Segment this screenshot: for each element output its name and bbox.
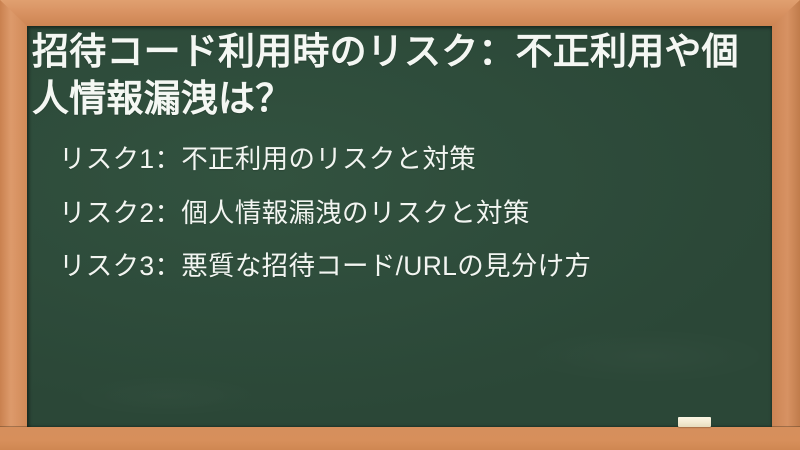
board-title: 招待コード利用時のリスク：不正利用や個人情報漏洩は？ [32, 29, 744, 122]
risk-list: リスク1：不正利用のリスクと対策 リスク2：個人情報漏洩のリスクと対策 リスク3… [59, 146, 739, 280]
frame-rail-top [0, 0, 800, 26]
list-item: リスク3：悪質な招待コード/URLの見分け方 [59, 253, 739, 280]
frame-rail-right [772, 0, 800, 450]
frame-rail-left [0, 0, 27, 450]
list-item: リスク1：不正利用のリスクと対策 [59, 146, 739, 173]
chalkboard-surface: 招待コード利用時のリスク：不正利用や個人情報漏洩は？ リスク1：不正利用のリスク… [27, 26, 772, 427]
chalk-stick [678, 417, 711, 427]
board-content: 招待コード利用時のリスク：不正利用や個人情報漏洩は？ リスク1：不正利用のリスク… [27, 26, 772, 427]
chalkboard-slide: 招待コード利用時のリスク：不正利用や個人情報漏洩は？ リスク1：不正利用のリスク… [0, 0, 800, 450]
list-item: リスク2：個人情報漏洩のリスクと対策 [59, 200, 739, 227]
frame-chalk-tray [0, 427, 800, 450]
